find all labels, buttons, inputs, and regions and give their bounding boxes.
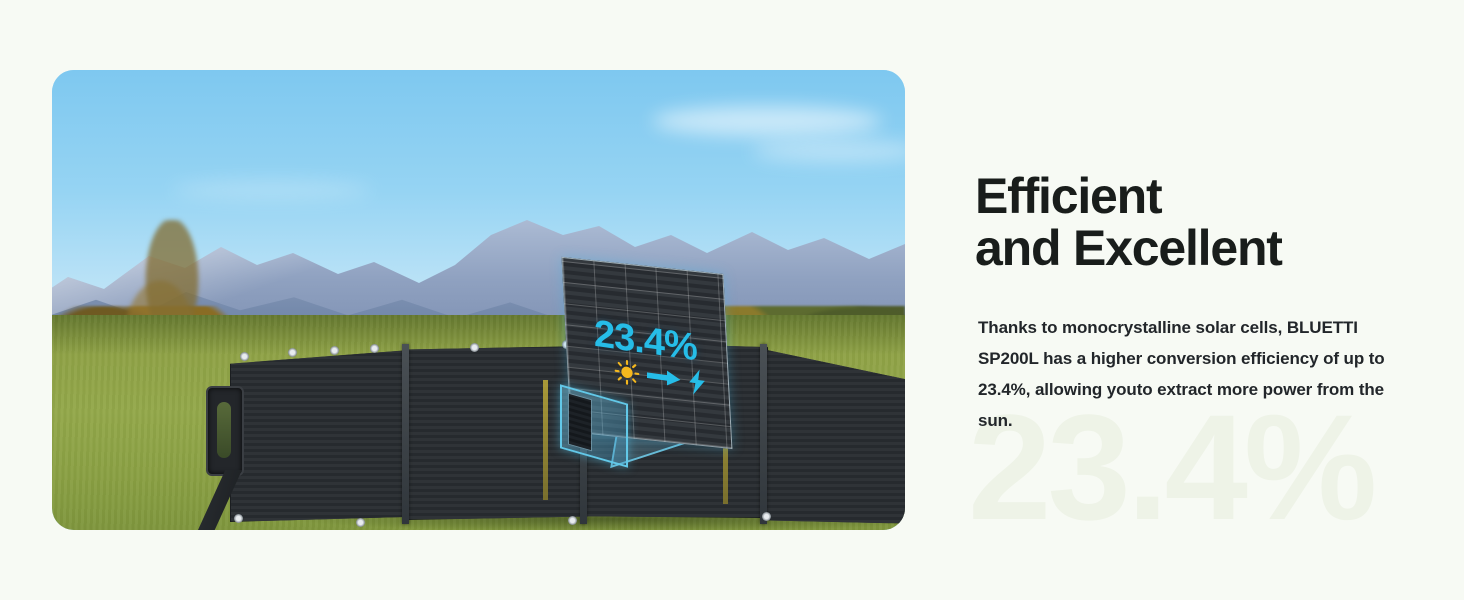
panel-reflection-strip [543,380,548,500]
efficiency-callout: 23.4% [552,266,752,466]
solar-panel-section [230,350,410,522]
panel-hinge [402,344,409,524]
copy-block: Efficient and Excellent Thanks to monocr… [975,170,1405,436]
cloud [652,106,882,136]
product-feature-page: 23.4% [0,0,1464,600]
grommet [356,518,365,527]
sun-icon [614,358,640,388]
cloud [172,180,372,200]
hero-product-image: 23.4% [52,70,905,530]
solar-panel-section [764,344,905,524]
lightning-bolt-icon [688,368,706,397]
grommet [762,512,771,521]
grommet [330,346,339,355]
grommet [240,352,249,361]
grommet [234,514,243,523]
page-title: Efficient and Excellent [975,170,1405,274]
cloud [752,140,905,162]
body-paragraph: Thanks to monocrystalline solar cells, B… [978,312,1398,436]
grommet [470,343,479,352]
arrow-right-icon [647,367,681,388]
grommet [288,348,297,357]
carry-handle [206,386,244,476]
panel-hinge [760,344,767,524]
grommet [568,516,577,525]
grommet [370,344,379,353]
solar-panel-array [170,288,900,528]
